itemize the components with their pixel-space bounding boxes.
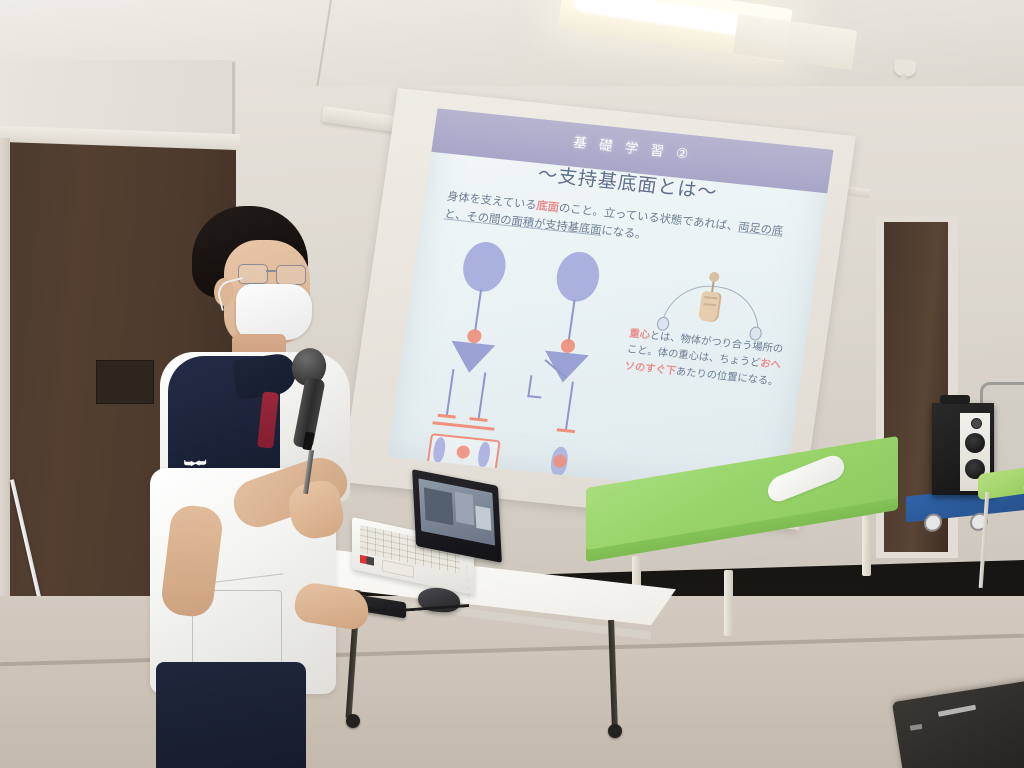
figure2-raised-shin [527,375,532,397]
figure-neck [474,290,482,334]
eyeglass-lens-right [276,265,306,285]
figure-foot-right [469,417,487,421]
figure-leg-right [477,372,486,420]
mat-label-strip [938,705,976,717]
white-face-mask [236,284,312,340]
bos-center-dot [456,445,471,459]
laptop-display [418,478,495,545]
body2-highlight-juushin: 重心 [629,327,651,341]
green-seat-chair [978,470,1024,590]
body-text-underline-1: 両足の [737,220,773,236]
center-of-gravity-dot [466,329,482,344]
figure2-torso-icon [541,351,589,385]
figure2-head-icon [553,250,602,304]
handheld-microphone[interactable] [286,348,336,478]
figure2-neck [567,299,575,343]
eyeglass-bridge [266,270,276,272]
figure2-raised-foot [527,395,541,398]
bos-foot-right [477,441,492,468]
white-folded-towel [767,451,845,506]
figure-head-icon [460,240,509,294]
speaker-driver-upper [965,433,985,453]
photo-scene: 基 礎 学 習 ② 〜支持基底面とは〜 身体を支えている底面のこと。立っている状… [0,0,1024,768]
laptop-window-2 [455,492,475,526]
figure-torso-icon [447,341,495,375]
bed-leg-back-right [862,516,871,576]
chair-leg-left [979,492,990,588]
figure-leg-left [446,369,455,417]
mat-label-small [910,724,923,731]
navy-trousers [156,662,306,768]
bos-foot-left [432,437,447,464]
presentation-slide: 基 礎 学 習 ② 〜支持基底面とは〜 身体を支えている底面のこと。立っている状… [387,108,833,498]
balance-pivot-knob [709,272,720,283]
presenter: ⮩⮨ [140,206,400,768]
microphone-power-switch[interactable] [302,431,314,450]
table-caster-right [608,724,622,738]
body-text-highlight-teimen: 底面 [536,199,560,214]
figure-foot-left [438,414,456,418]
center-of-gravity-dot-2 [560,338,576,353]
base-of-support-line-narrow [557,428,575,433]
laptop-window-1 [424,487,454,525]
speaker-handle [940,395,970,404]
bed-leg-front-right [724,570,733,636]
sprinkler-head-icon [893,59,917,77]
body-text-part-3: になる。 [601,224,648,242]
table-leg-right [608,620,618,728]
base-of-support-line [432,421,494,430]
speaker-volume-knob-icon[interactable] [971,418,982,429]
laptop-window-3 [475,506,491,531]
figure2-support-leg [565,382,574,432]
eyeglasses-icon [238,264,306,284]
